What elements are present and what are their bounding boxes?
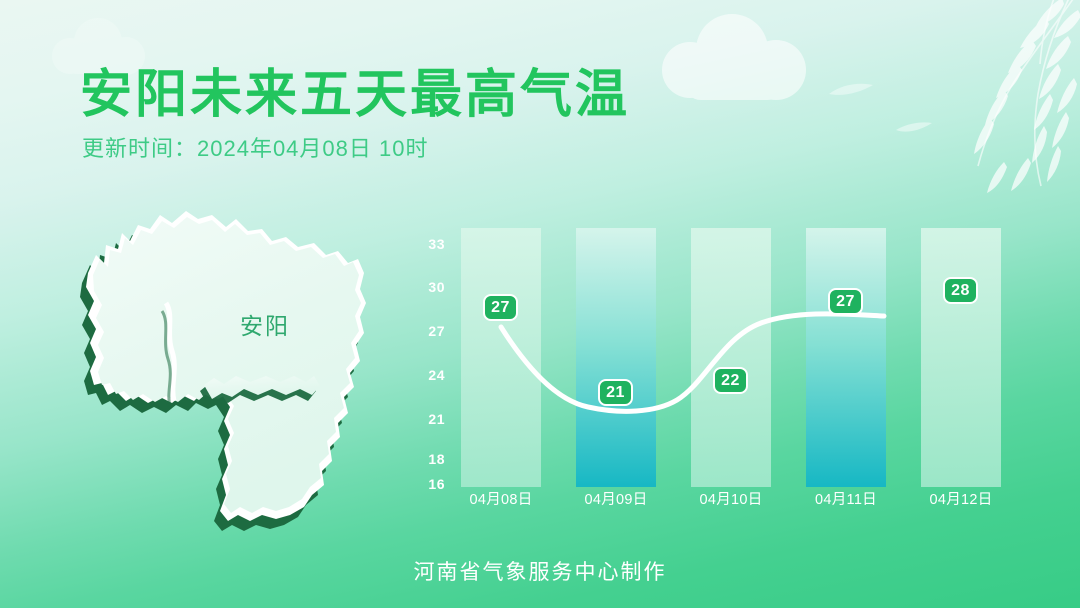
update-time-label: 更新时间：2024年04月08日 10时 <box>82 131 428 163</box>
y-tick: 16 <box>405 476 445 492</box>
line-path <box>501 314 884 411</box>
x-tick: 04月12日 <box>906 488 1016 509</box>
cloud-icon <box>640 8 830 108</box>
leaf-icon <box>828 82 874 98</box>
value-badge: 28 <box>943 277 978 304</box>
value-badge: 27 <box>483 294 518 321</box>
x-tick: 04月10日 <box>676 488 786 509</box>
value-badge: 22 <box>713 367 748 394</box>
y-tick: 30 <box>405 279 445 295</box>
value-badge: 27 <box>828 288 863 315</box>
page-title: 安阳未来五天最高气温 <box>80 52 630 127</box>
anyang-map <box>70 195 390 535</box>
temperature-chart: 33 30 27 24 21 18 16 04月08日 04月09日 04月10… <box>405 220 1045 520</box>
footer-credit: 河南省气象服务中心制作 <box>0 556 1080 586</box>
y-tick: 21 <box>405 411 445 427</box>
x-tick: 04月11日 <box>791 488 901 509</box>
map-region-label: 安阳 <box>240 307 290 341</box>
x-tick: 04月08日 <box>446 488 556 509</box>
y-tick: 27 <box>405 323 445 339</box>
infographic-canvas: 安阳未来五天最高气温 更新时间：2024年04月08日 10时 <box>0 0 1080 608</box>
willow-branch-icon <box>886 0 1080 205</box>
y-tick: 33 <box>405 236 445 252</box>
value-badge: 21 <box>598 379 633 406</box>
x-tick: 04月09日 <box>561 488 671 509</box>
map-shape <box>70 195 390 535</box>
y-tick: 18 <box>405 451 445 467</box>
y-tick: 24 <box>405 367 445 383</box>
